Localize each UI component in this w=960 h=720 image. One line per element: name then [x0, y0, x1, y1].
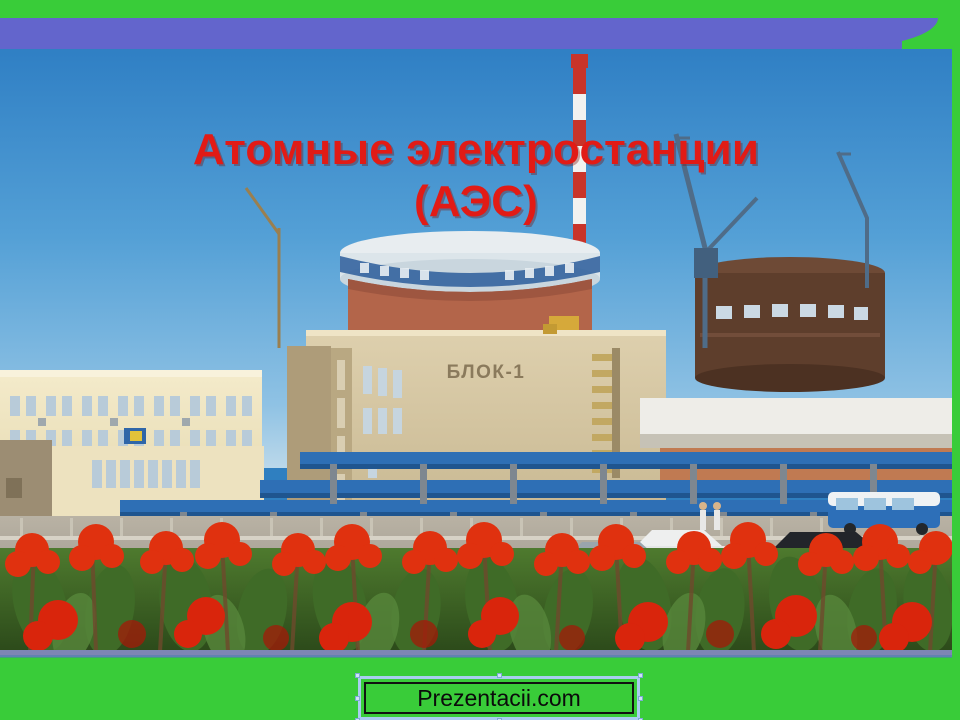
bottom-accent-line: [0, 650, 952, 657]
resize-handle-top-left[interactable]: [355, 673, 360, 678]
presentation-slide: БЛОК-1: [0, 0, 960, 720]
slide-title: Атомные электростанции (АЭС): [0, 124, 952, 228]
office-building: [0, 370, 264, 516]
purple-accent-band: [0, 18, 902, 49]
svg-text:БЛОК-1: БЛОК-1: [447, 362, 526, 383]
resize-handle-top-right[interactable]: [638, 673, 643, 678]
watermark-textbox[interactable]: Prezentacii.com: [358, 676, 640, 720]
right-green-strip: [952, 0, 960, 720]
resize-handle-middle-right[interactable]: [638, 696, 643, 701]
green-top-band: [0, 0, 960, 18]
resize-handle-middle-left[interactable]: [355, 696, 360, 701]
resize-handle-top-middle[interactable]: [497, 673, 502, 678]
reactor-under-construction: [695, 257, 885, 392]
watermark-selection-frame[interactable]: [358, 676, 640, 720]
